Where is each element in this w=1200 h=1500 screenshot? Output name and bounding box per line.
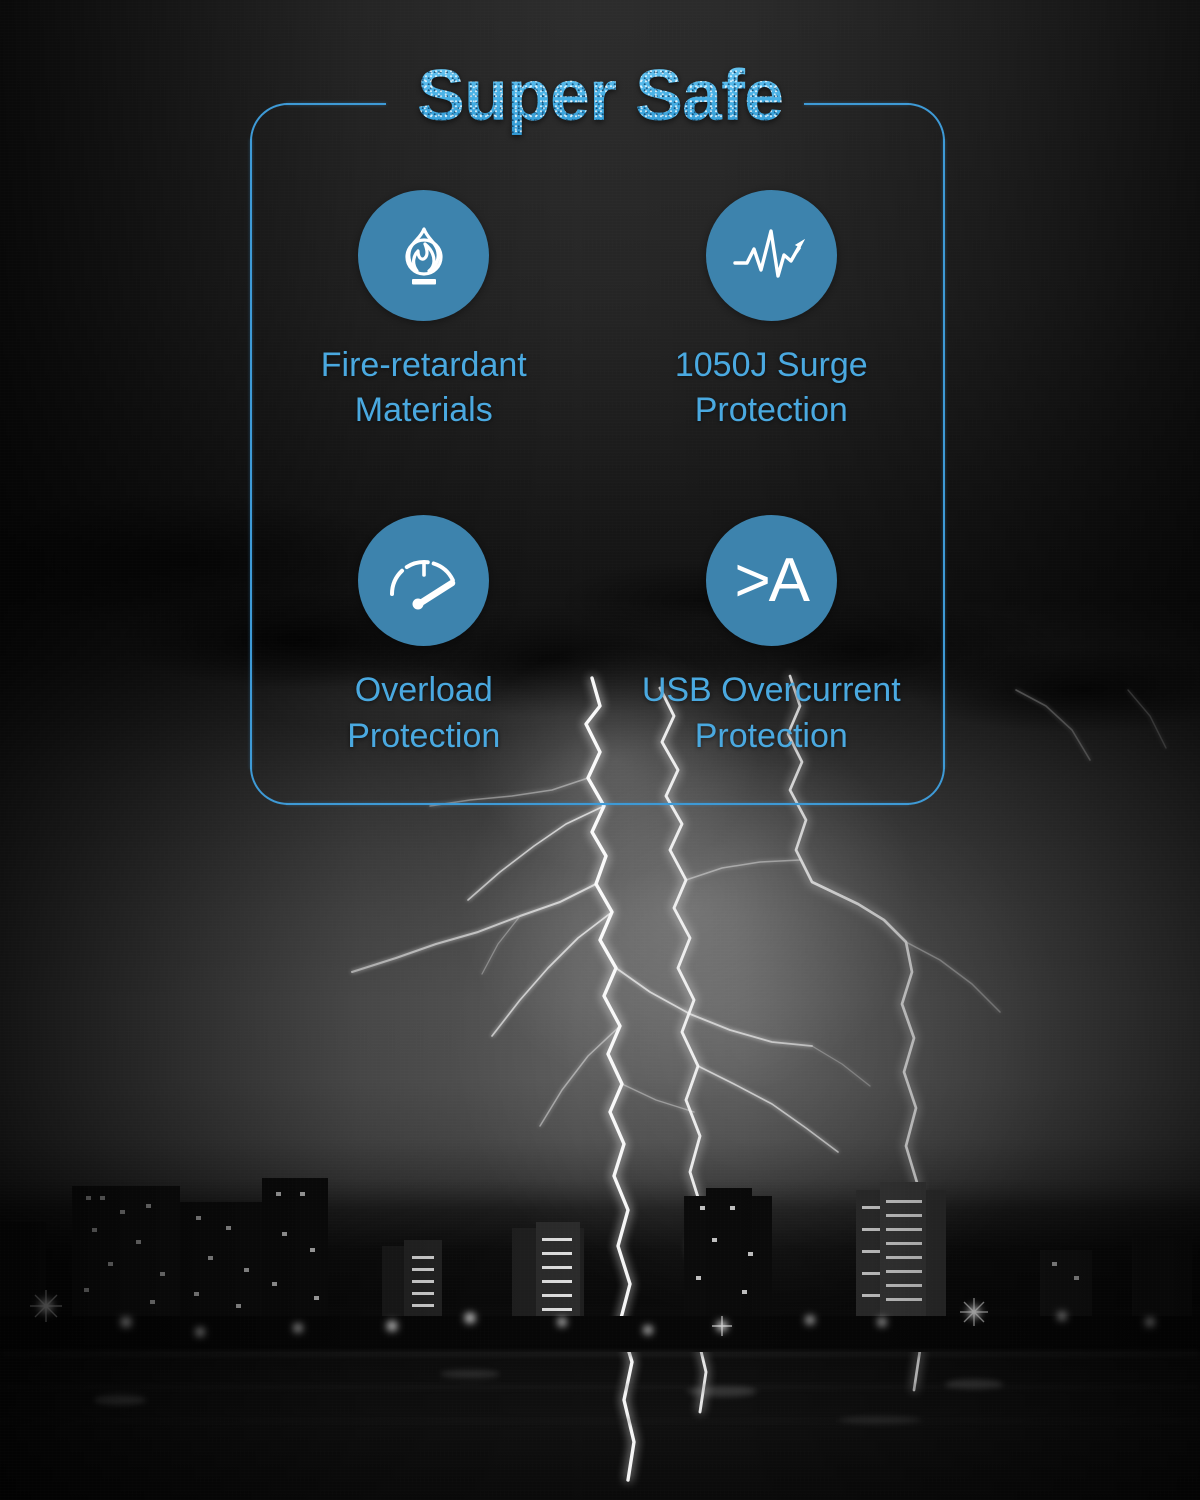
feature-grid: Fire-retardant Materials 1050J Surge Pro…	[250, 190, 945, 759]
feature-surge-protection: 1050J Surge Protection	[598, 190, 946, 433]
feature-label: USB Overcurrent Protection	[642, 668, 901, 758]
feature-icon-badge	[358, 515, 489, 646]
page-title: Super Safe	[0, 55, 1200, 137]
feature-label: Fire-retardant Materials	[321, 343, 527, 433]
gauge-icon	[384, 550, 464, 612]
feature-icon-badge	[706, 190, 837, 321]
product-feature-banner: Super Safe Fire-retardant Materials	[0, 0, 1200, 1500]
overcurrent-amp-icon: >A	[734, 550, 808, 612]
flame-icon	[385, 217, 463, 295]
feature-usb-overcurrent: >A USB Overcurrent Protection	[598, 515, 946, 758]
feature-label: 1050J Surge Protection	[675, 343, 868, 433]
feature-overload-protection: Overload Protection	[250, 515, 598, 758]
feature-label: Overload Protection	[347, 668, 500, 758]
feature-icon-badge: >A	[706, 515, 837, 646]
feature-fire-retardant: Fire-retardant Materials	[250, 190, 598, 433]
feature-icon-badge	[358, 190, 489, 321]
surge-waveform-arrow-icon	[731, 221, 811, 291]
